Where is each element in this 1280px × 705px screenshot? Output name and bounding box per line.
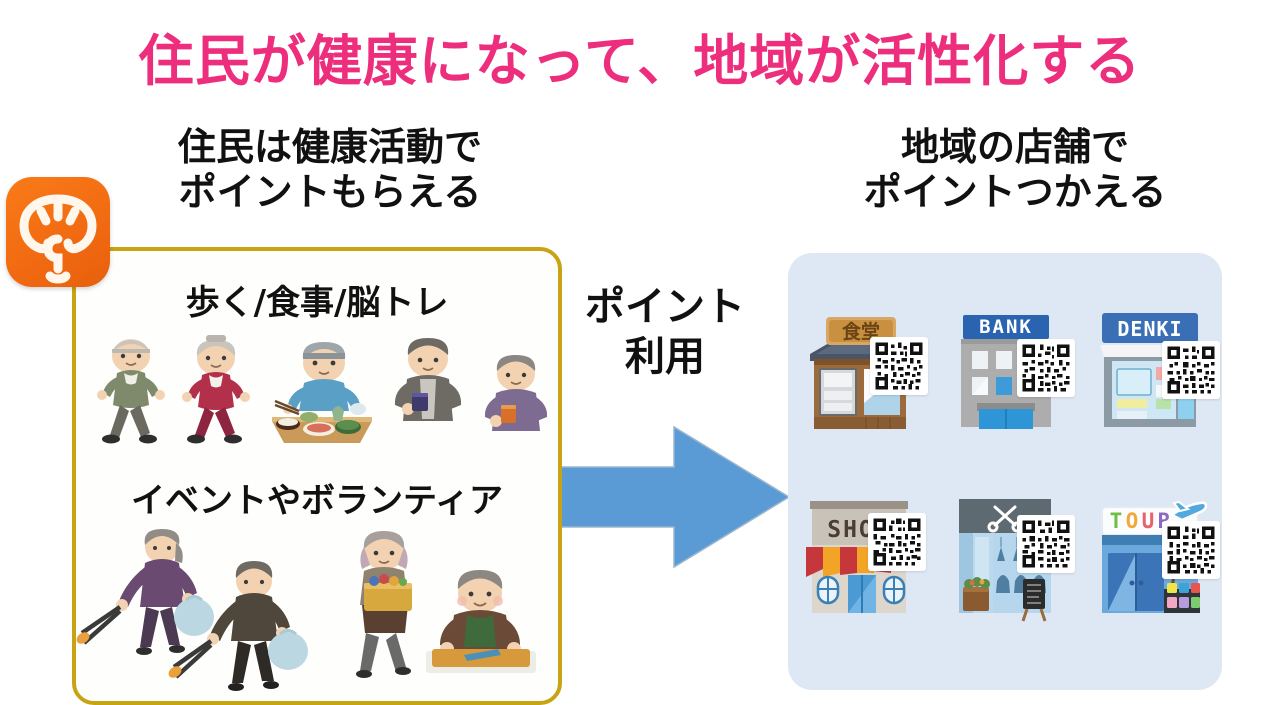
local-shops-panel: 食堂: [788, 253, 1222, 690]
arrow-label-line1: ポイント: [555, 282, 775, 332]
qr-code-icon[interactable]: [1017, 515, 1075, 573]
left-heading-line2: ポイントもらえる: [95, 170, 565, 215]
activity-heading: 歩く/食事/脳トレ: [76, 275, 558, 324]
svg-text:T: T: [1109, 509, 1122, 533]
shop-shokudo[interactable]: 食堂: [796, 299, 924, 439]
qr-code-icon[interactable]: [870, 337, 928, 395]
volunteer-heading: イベントやボランティア: [76, 473, 558, 522]
right-column-heading: 地域の店舗で ポイントつかえる: [805, 125, 1225, 215]
arrow-label-line2: 利用: [555, 332, 775, 382]
shop-general-store[interactable]: SHOP: [796, 485, 924, 625]
resident-activity-box: 歩く/食事/脳トレ: [72, 247, 562, 705]
shop-bank[interactable]: BANK: [941, 299, 1069, 439]
point-usage-arrow-icon: [556, 415, 791, 580]
svg-text:O: O: [1125, 509, 1138, 533]
shop-tour-agency[interactable]: T O U R: [1086, 485, 1214, 625]
svg-text:BANK: BANK: [979, 316, 1033, 338]
left-heading-line1: 住民は健康活動で: [95, 125, 565, 170]
qr-code-icon[interactable]: [868, 513, 926, 571]
shop-row-bottom: SHOP: [788, 475, 1222, 625]
activity-illustration-row: [76, 329, 558, 449]
page-title: 住民が健康になって、地域が活性化する: [0, 16, 1280, 96]
shop-row-top: 食堂: [788, 289, 1222, 439]
shop-hair-salon[interactable]: [941, 485, 1069, 625]
svg-text:DENKI: DENKI: [1117, 317, 1182, 341]
slide-canvas: 住民が健康になって、地域が活性化する 住民は健康活動で ポイントもらえる 地域の…: [0, 0, 1280, 702]
qr-code-icon[interactable]: [1162, 521, 1220, 579]
volunteer-illustration-row: [76, 521, 558, 641]
right-heading-line2: ポイントつかえる: [805, 170, 1225, 215]
svg-text:U: U: [1141, 509, 1154, 533]
qr-code-icon[interactable]: [1162, 341, 1220, 399]
shop-denki[interactable]: DENKI: [1086, 299, 1214, 439]
arrow-label: ポイント 利用: [555, 282, 775, 382]
brain-logo-icon: [6, 177, 110, 287]
qr-code-icon[interactable]: [1017, 339, 1075, 397]
right-heading-line1: 地域の店舗で: [805, 125, 1225, 170]
left-column-heading: 住民は健康活動で ポイントもらえる: [95, 125, 565, 215]
